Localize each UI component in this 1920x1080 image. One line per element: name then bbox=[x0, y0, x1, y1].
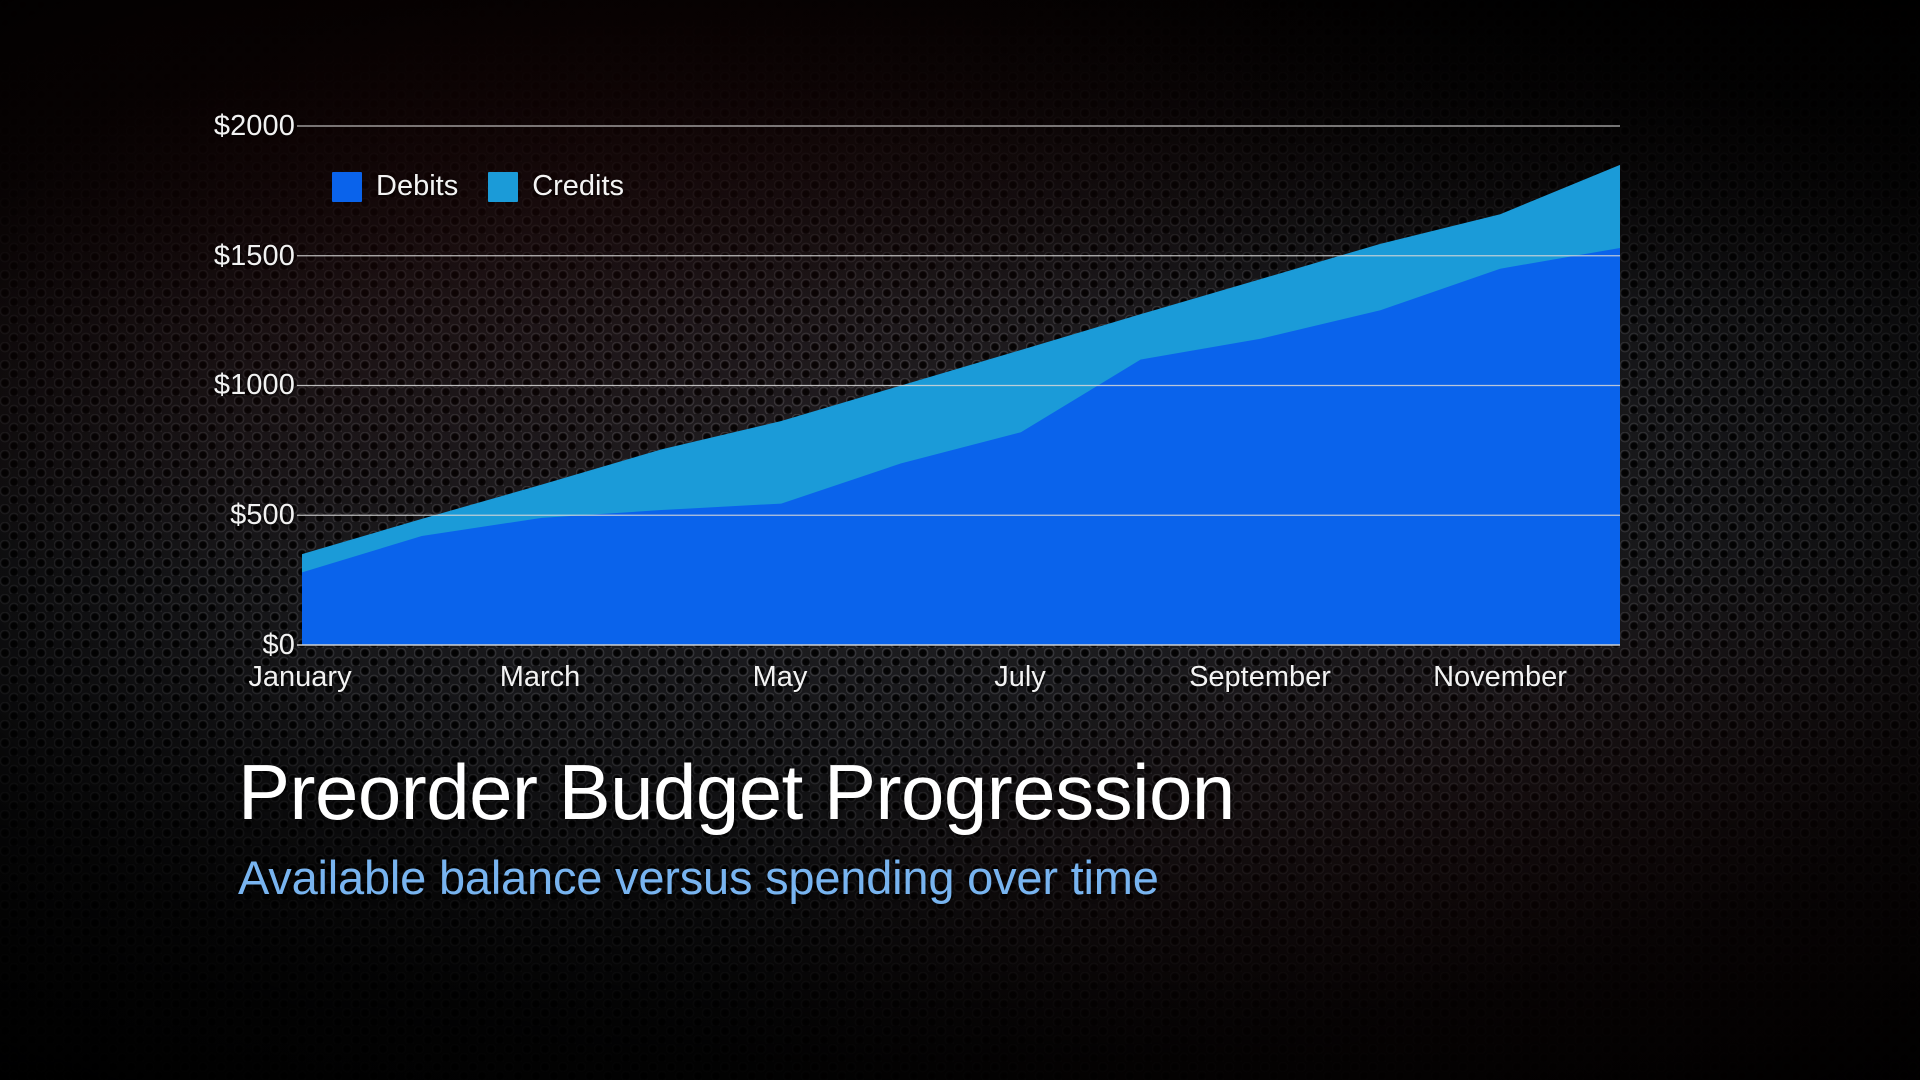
chart-plot-svg bbox=[0, 0, 1920, 1080]
page-title: Preorder Budget Progression bbox=[238, 752, 1738, 834]
ytick-label-1000: $1000 bbox=[214, 369, 295, 402]
ytick-label-1500: $1500 bbox=[214, 240, 295, 273]
area-series-group bbox=[302, 165, 1620, 645]
title-block: Preorder Budget Progression Available ba… bbox=[238, 752, 1738, 904]
ytick-label-0: $0 bbox=[263, 629, 295, 662]
page-subtitle: Available balance versus spending over t… bbox=[238, 852, 1738, 904]
chart-legend: Debits Credits bbox=[332, 170, 624, 203]
xtick-label-may: May bbox=[660, 661, 900, 694]
square-swatch-icon bbox=[332, 172, 362, 202]
xtick-label-july: July bbox=[900, 661, 1140, 694]
ytick-label-500: $500 bbox=[230, 499, 295, 532]
xtick-label-november: November bbox=[1380, 661, 1620, 694]
xtick-label-march: March bbox=[420, 661, 660, 694]
legend-label-credits: Credits bbox=[532, 170, 624, 203]
xtick-label-january: January bbox=[180, 661, 420, 694]
square-swatch-icon bbox=[488, 172, 518, 202]
legend-item-debits[interactable]: Debits bbox=[332, 170, 458, 203]
legend-item-credits[interactable]: Credits bbox=[488, 170, 624, 203]
ytick-label-2000: $2000 bbox=[214, 110, 295, 143]
xtick-label-september: September bbox=[1140, 661, 1380, 694]
area-chart: $2000 $1500 $1000 $500 $0 January March … bbox=[0, 0, 1920, 1080]
legend-label-debits: Debits bbox=[376, 170, 458, 203]
